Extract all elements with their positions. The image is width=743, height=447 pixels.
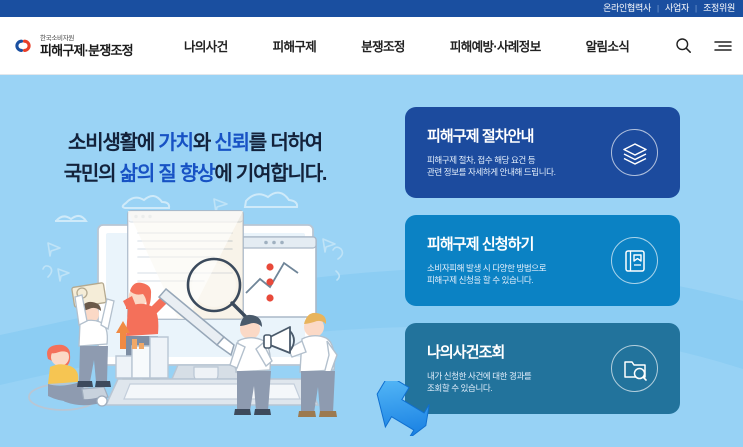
nav-item-dispute[interactable]: 분쟁조정 [361,36,405,55]
card-description: 피해구제 절차, 접수 해당 요건 등 관련 정보를 자세하게 안내해 드립니다… [427,154,611,178]
headline-line-1: 소비생활에 가치와 신뢰를 더하여 [0,128,390,159]
main-navigation: 나의사건 피해구제 분쟁조정 피해예방·사례정보 알림소식 [184,36,673,55]
nav-item-prevention[interactable]: 피해예방·사례정보 [450,36,541,55]
card-text: 피해구제 절차안내 피해구제 절차, 접수 해당 요건 등 관련 정보를 자세하… [427,127,611,178]
logo-subtitle: 한국소비자원 [40,34,133,43]
hamburger-menu-icon[interactable] [713,36,733,56]
topbar-link-partner[interactable]: 온라인협력사 [603,0,651,17]
card-apply-relief[interactable]: 피해구제 신청하기 소비자피해 발생 시 다양한 방법으로 피해구제 신청을 할… [405,215,680,306]
card-description: 내가 신청한 사건에 대한 경과를 조회할 수 있습니다. [427,370,611,394]
card-title: 피해구제 절차안내 [427,127,611,147]
nav-item-my-case[interactable]: 나의사건 [184,36,228,55]
topbar-separator: | [695,4,697,13]
site-logo[interactable]: 한국소비자원 피해구제·분쟁조정 [12,34,162,58]
card-my-case-lookup[interactable]: 나의사건조회 내가 신청한 사건에 대한 경과를 조회할 수 있습니다. [405,323,680,414]
card-text: 나의사건조회 내가 신청한 사건에 대한 경과를 조회할 수 있습니다. [427,343,611,394]
layers-icon [611,129,658,176]
card-title: 피해구제 신청하기 [427,235,611,255]
interlocking-rings-icon [12,35,34,57]
hero-section: 소비생활에 가치와 신뢰를 더하여 국민의 삶의 질 향상에 기여합니다. [0,76,743,447]
topbar-link-mediator[interactable]: 조정위원 [703,0,735,17]
logo-title: 피해구제·분쟁조정 [40,43,133,58]
card-title: 나의사건조회 [427,343,611,363]
topbar-separator: | [657,4,659,13]
header-icon-group [673,36,733,56]
topbar-link-business[interactable]: 사업자 [665,0,689,17]
card-description: 소비자피해 발생 시 다양한 방법으로 피해구제 신청을 할 수 있습니다. [427,262,611,286]
document-book-icon [611,237,658,284]
page-root: 온라인협력사 | 사업자 | 조정위원 한국소비자원 피해구제·분쟁조정 나의사… [0,0,743,447]
card-text: 피해구제 신청하기 소비자피해 발생 시 다양한 방법으로 피해구제 신청을 할… [427,235,611,286]
top-utility-bar: 온라인협력사 | 사업자 | 조정위원 [0,0,743,17]
site-header: 한국소비자원 피해구제·분쟁조정 나의사건 피해구제 분쟁조정 피해예방·사례정… [0,17,743,75]
nav-item-news[interactable]: 알림소식 [586,36,630,55]
quick-link-card-group: 피해구제 절차안내 피해구제 절차, 접수 해당 요건 등 관련 정보를 자세하… [405,107,680,431]
logo-text: 한국소비자원 피해구제·분쟁조정 [40,34,133,58]
nav-item-damage-relief[interactable]: 피해구제 [273,36,317,55]
folder-search-icon [611,345,658,392]
consumer-protection-illustration [18,181,398,436]
search-icon[interactable] [673,36,693,56]
card-procedure-guide[interactable]: 피해구제 절차안내 피해구제 절차, 접수 해당 요건 등 관련 정보를 자세하… [405,107,680,198]
